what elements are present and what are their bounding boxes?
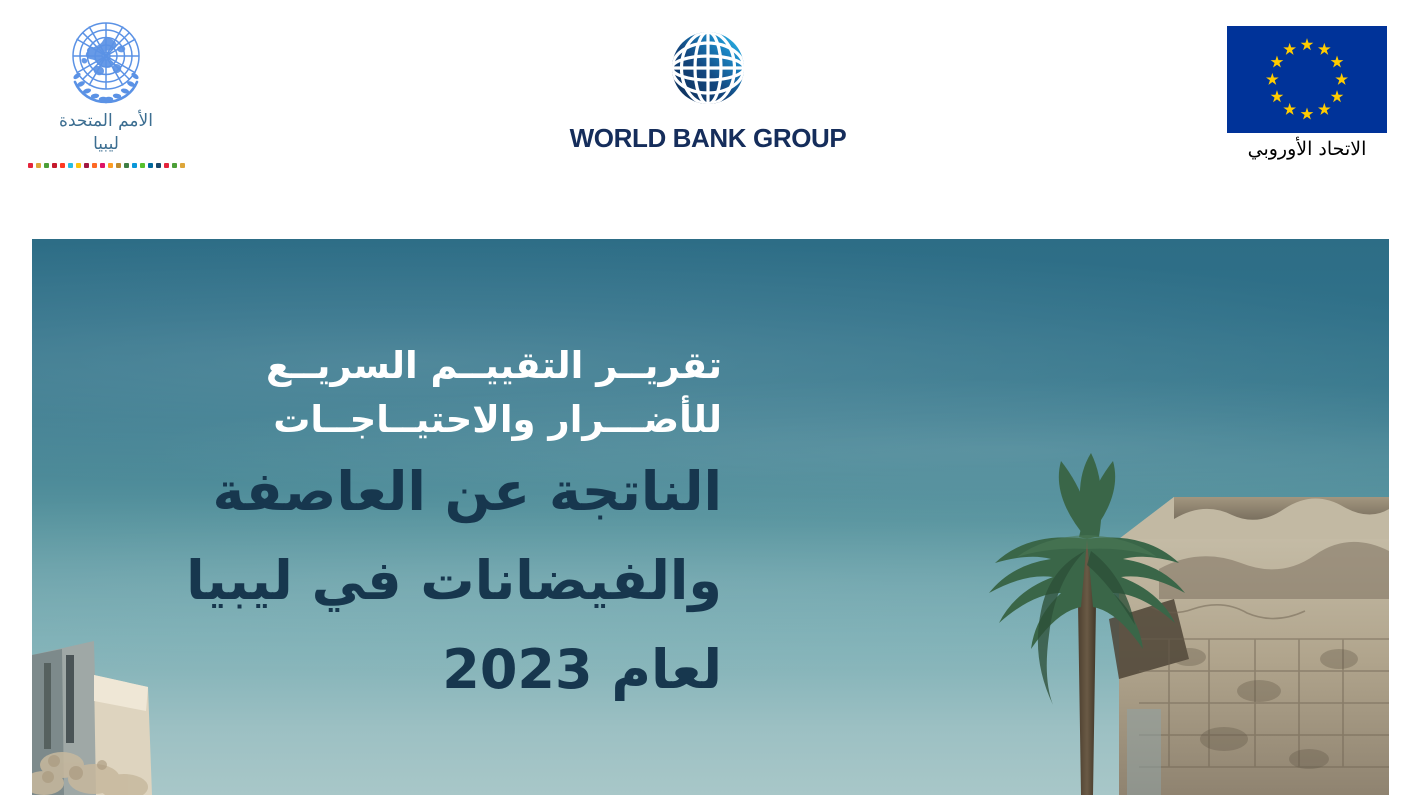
sdg-dot-6 (68, 163, 73, 168)
palm-and-building-illustration (959, 239, 1389, 795)
palm-and-ruin-photo-region (959, 239, 1389, 795)
sdg-dot-3 (44, 163, 49, 168)
sdg-dot-4 (52, 163, 57, 168)
un-logo-line-1: الأمم المتحدة (26, 110, 186, 133)
world-bank-wordmark: WORLD BANK GROUP (548, 123, 868, 154)
sdg-dot-7 (76, 163, 81, 168)
sdg-dot-9 (92, 163, 97, 168)
world-bank-group-logo: WORLD BANK GROUP (548, 20, 868, 154)
title-line-4: والفيضانات في ليبيا (102, 536, 722, 625)
sdg-dot-18 (164, 163, 169, 168)
world-bank-globe-icon (660, 20, 756, 116)
sdg-dot-14 (132, 163, 137, 168)
sdg-dot-2 (36, 163, 41, 168)
title-line-1: تقريــر التقييــم السريــع (102, 339, 722, 393)
sdg-color-dot-strip (26, 163, 186, 168)
un-emblem-icon (54, 14, 158, 110)
report-cover-page: الأمم المتحدة ليبيا (0, 0, 1414, 795)
title-line-5: لعام 2023 (102, 625, 722, 714)
sdg-dot-19 (172, 163, 177, 168)
european-union-logo: الاتحاد الأوروبي (1224, 26, 1390, 160)
sdg-dot-8 (84, 163, 89, 168)
sdg-dot-17 (156, 163, 161, 168)
partner-logo-bar: الأمم المتحدة ليبيا (0, 0, 1414, 225)
sdg-dot-20 (180, 163, 185, 168)
cover-title-block: تقريــر التقييــم السريــع للأضـــرار وا… (102, 339, 722, 714)
sdg-dot-15 (140, 163, 145, 168)
damaged-building (1109, 497, 1389, 795)
sdg-dot-1 (28, 163, 33, 168)
eu-flag-icon (1227, 26, 1387, 133)
sdg-dot-12 (116, 163, 121, 168)
cover-hero-image: تقريــر التقييــم السريــع للأضـــرار وا… (32, 239, 1389, 795)
sdg-dot-16 (148, 163, 153, 168)
un-libya-logo: الأمم المتحدة ليبيا (26, 14, 186, 168)
un-logo-line-2: ليبيا (26, 133, 186, 156)
sdg-dot-10 (100, 163, 105, 168)
sdg-dot-5 (60, 163, 65, 168)
sdg-dot-13 (124, 163, 129, 168)
sdg-dot-11 (108, 163, 113, 168)
title-line-2: للأضـــرار والاحتيــاجــات (102, 393, 722, 447)
eu-logo-caption: الاتحاد الأوروبي (1224, 138, 1390, 160)
title-line-3: الناتجة عن العاصفة (102, 447, 722, 536)
